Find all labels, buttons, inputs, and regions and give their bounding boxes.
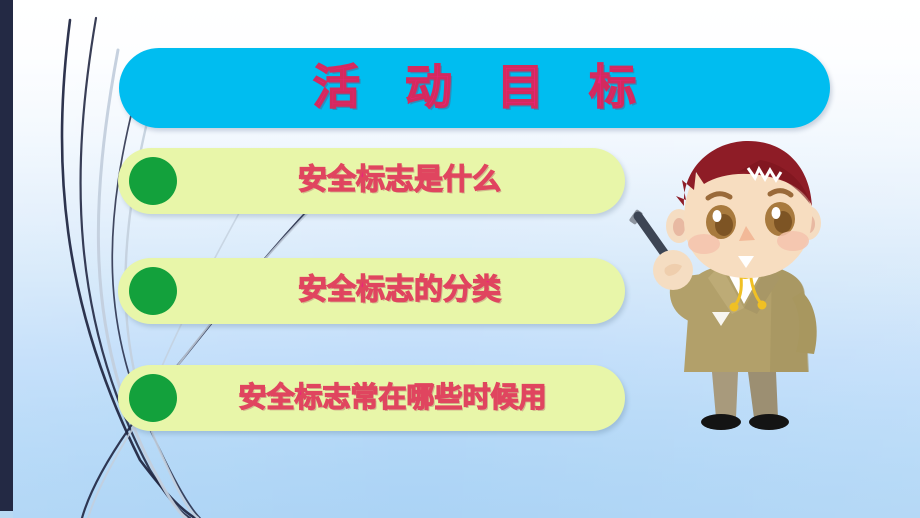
shoe-right (749, 414, 789, 430)
list-item-label: 安全标志是什么 (188, 166, 611, 195)
green-dot-icon (129, 157, 177, 205)
cartoon-boy-with-pointer-illustration (620, 128, 890, 458)
cheek-right (777, 231, 809, 251)
list-item[interactable]: 安全标志的分类 (118, 258, 625, 324)
title-banner: 活 动 目 标 (119, 48, 830, 128)
left-accent-bar (0, 0, 13, 511)
page-title: 活 动 目 标 (119, 64, 830, 111)
green-dot-icon (129, 267, 177, 315)
eye-right (765, 202, 795, 236)
shoe-left (701, 414, 741, 430)
left-accent-bar-foot (0, 511, 13, 518)
list-item-label: 安全标志的分类 (188, 276, 611, 305)
green-dot-icon (129, 374, 177, 422)
list-item[interactable]: 安全标志常在哪些时候用 (118, 365, 625, 431)
slide-canvas: 活 动 目 标 安全标志是什么 安全标志的分类 安全标志常在哪些时候用 (0, 0, 920, 518)
eye-left (706, 205, 736, 239)
cheek-left (688, 234, 720, 254)
list-item-label: 安全标志常在哪些时候用 (174, 383, 611, 411)
list-item[interactable]: 安全标志是什么 (118, 148, 625, 214)
